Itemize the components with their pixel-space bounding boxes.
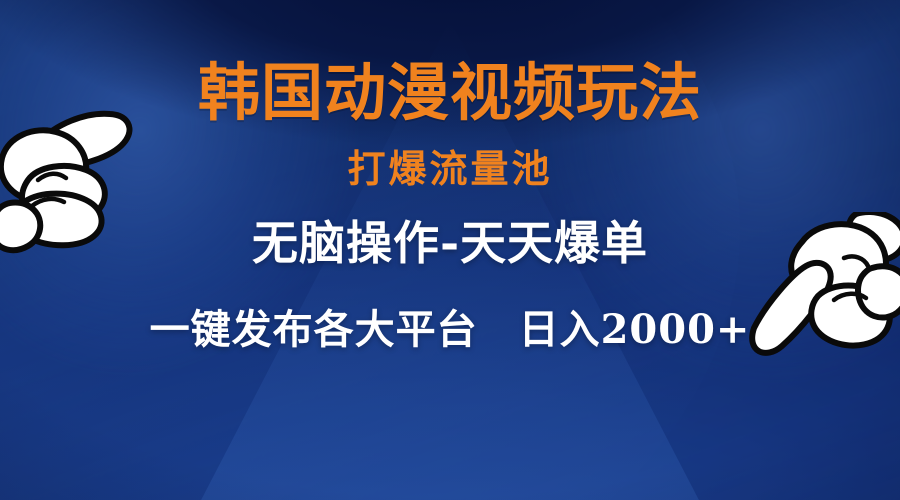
pointing-hand-down-left-icon xyxy=(748,212,900,358)
banner-subtitle: 打爆流量池 xyxy=(347,150,552,188)
promo-banner: 韩国动漫视频玩法 打爆流量池 无脑操作-天天爆单 一键发布各大平台 日入2000… xyxy=(0,0,900,500)
banner-tagline-secondary: 一键发布各大平台 日入2000+ xyxy=(150,310,751,350)
pointing-hand-right-icon xyxy=(0,84,134,256)
banner-tagline-primary: 无脑操作-天天爆单 xyxy=(252,220,648,266)
banner-title: 韩国动漫视频玩法 xyxy=(198,62,702,124)
